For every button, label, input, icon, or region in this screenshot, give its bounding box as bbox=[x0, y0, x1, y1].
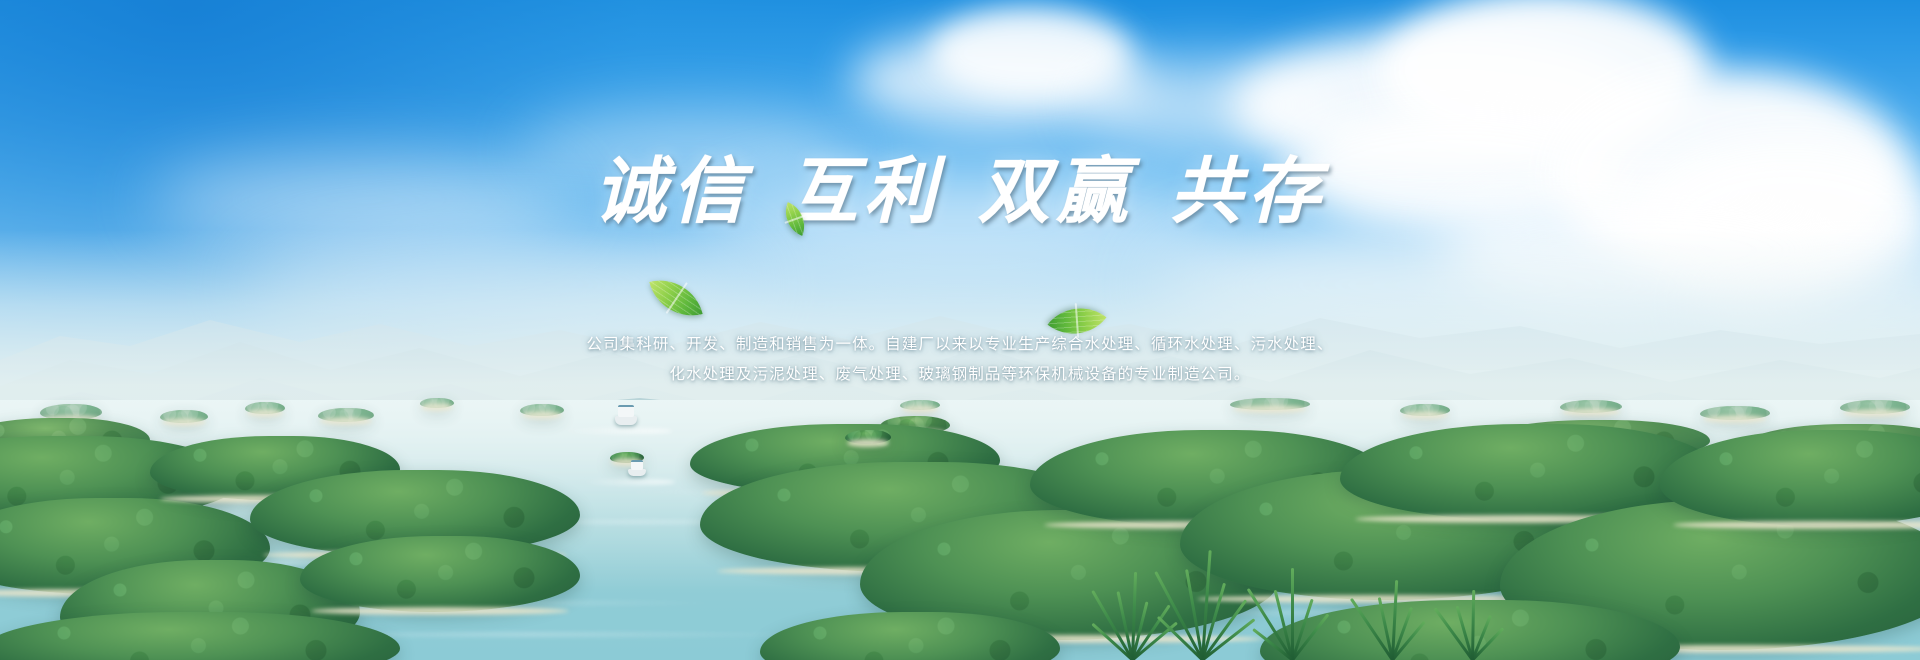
headline-part-3: 双赢 bbox=[978, 148, 1134, 233]
headline-part-2: 互利 bbox=[786, 148, 942, 233]
boat-hull bbox=[615, 416, 637, 425]
boat-small bbox=[628, 469, 646, 487]
headline-part-1: 诚信 bbox=[594, 148, 750, 233]
boat-large bbox=[615, 416, 637, 438]
subtitle-line-2: 化水处理及污泥处理、废气处理、玻璃钢制品等环保机械设备的专业制造公司。 bbox=[0, 359, 1920, 389]
headline-part-4: 共存 bbox=[1170, 148, 1326, 233]
banner-subtitle: 公司集科研、开发、制造和销售为一体。自建厂以来以专业生产综合水处理、循环水处理、… bbox=[0, 329, 1920, 389]
boat-deck bbox=[618, 405, 634, 416]
boat-wake bbox=[581, 479, 675, 485]
subtitle-line-1: 公司集科研、开发、制造和销售为一体。自建厂以来以专业生产综合水处理、循环水处理、… bbox=[0, 329, 1920, 359]
page-title: 诚信互利双赢共存 bbox=[0, 155, 1920, 227]
boat-deck bbox=[631, 460, 644, 469]
hero-banner: 诚信互利双赢共存 公司集科研、开发、制造和销售为一体。自建厂以来以专业生产综合水… bbox=[0, 0, 1920, 660]
boat-hull bbox=[628, 469, 646, 476]
cloud-shape bbox=[1080, 60, 1340, 150]
